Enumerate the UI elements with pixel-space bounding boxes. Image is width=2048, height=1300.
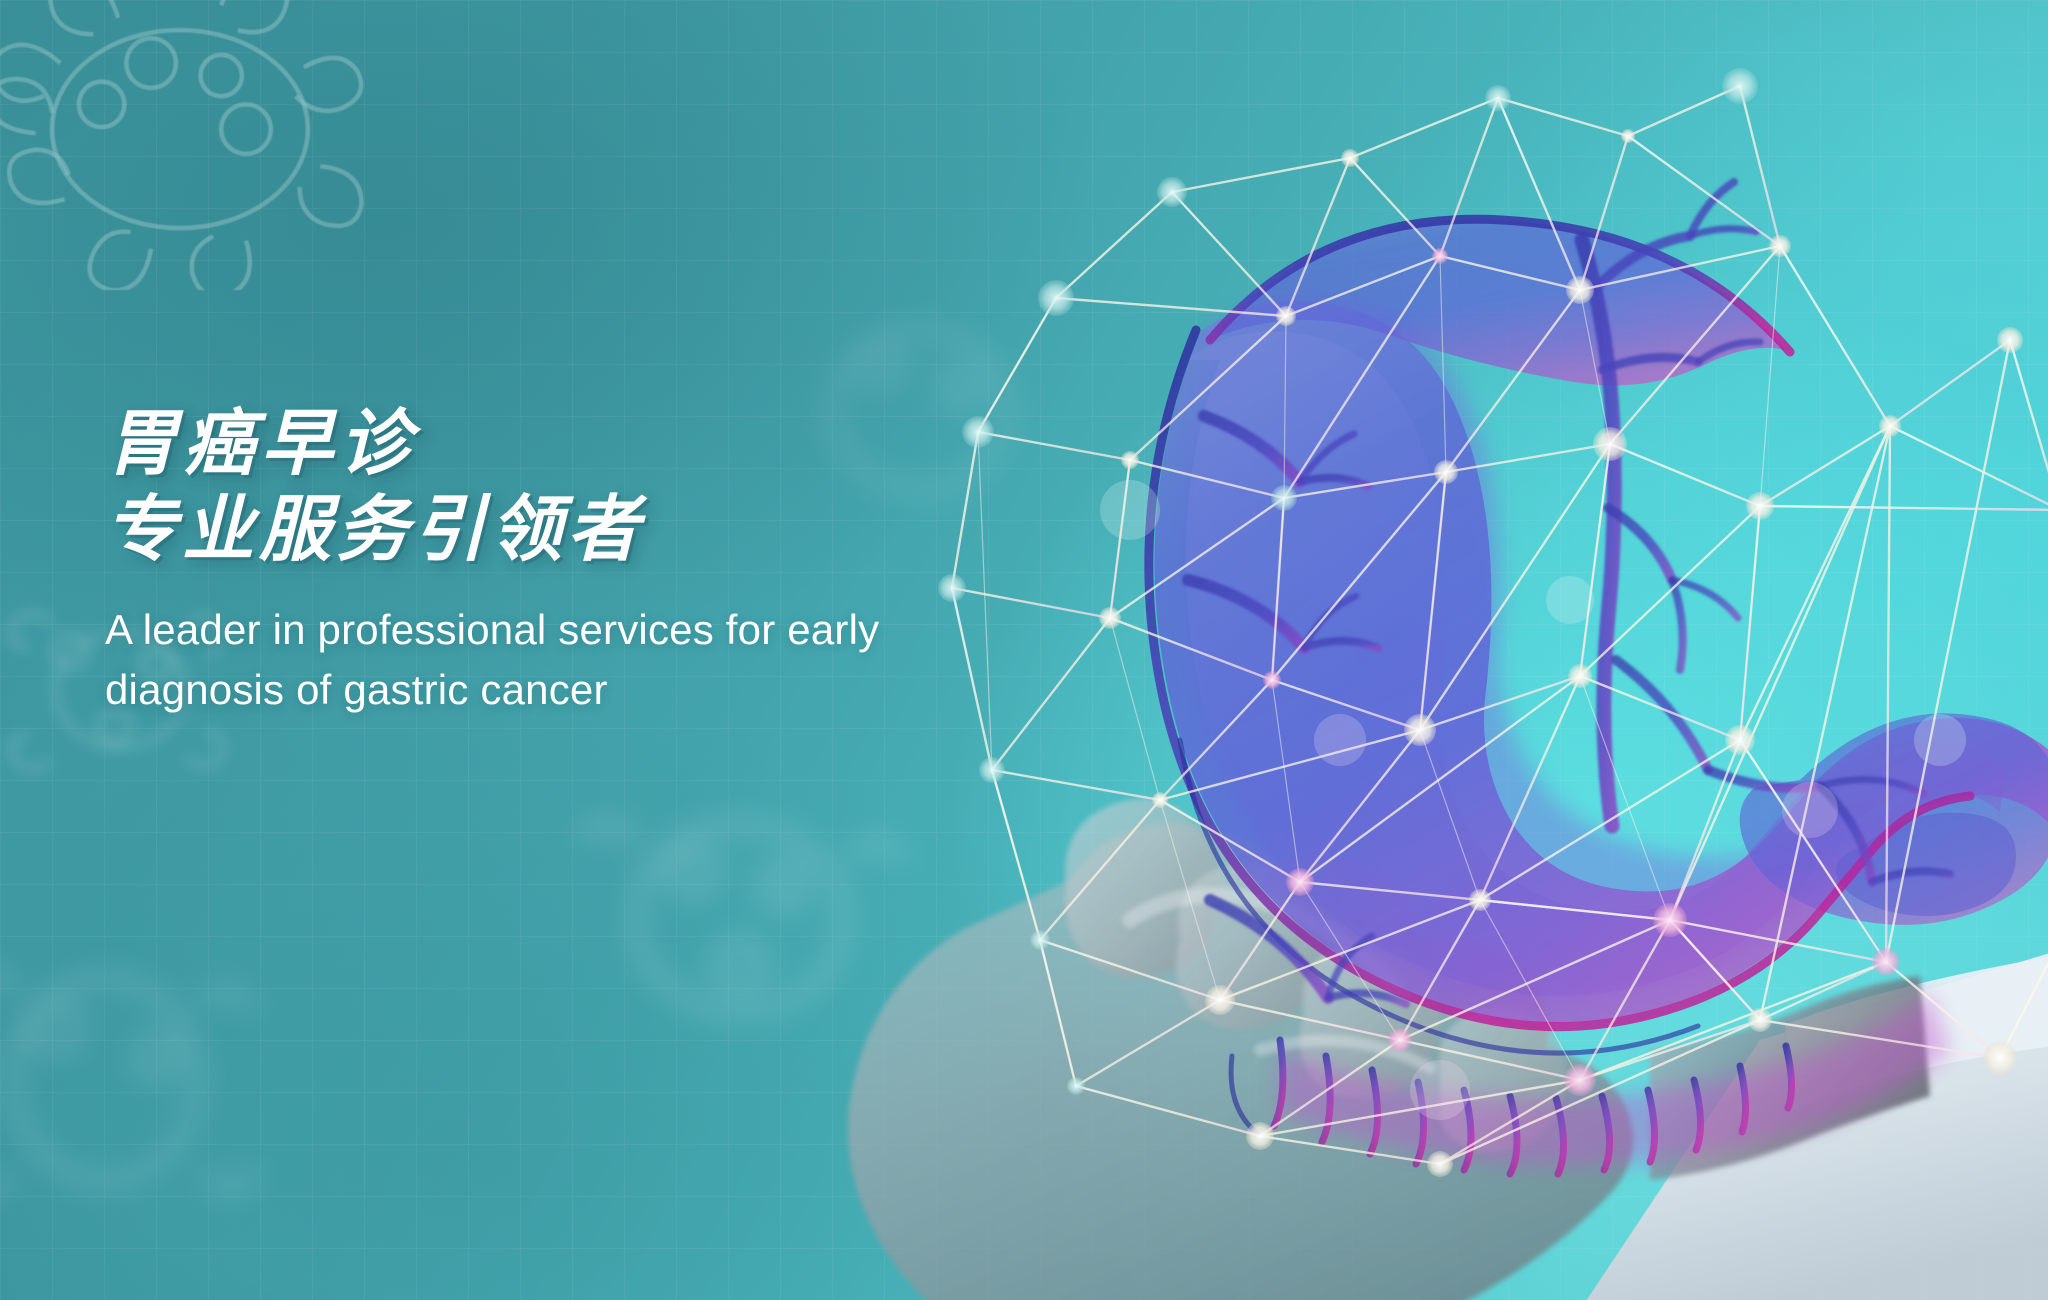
network-nodes — [938, 68, 2048, 1177]
polygon-network-mesh — [880, 40, 2048, 1300]
hand-holding-stomach-illustration — [880, 40, 2048, 1300]
network-edges-secondary — [978, 246, 1886, 1086]
network-node-halos — [1100, 480, 1966, 1120]
subtitle-line-1: A leader in professional services for ea… — [105, 600, 895, 660]
subtitle-english: A leader in professional services for ea… — [105, 600, 895, 720]
hero-banner: 胃癌早诊 专业服务引领者 A leader in professional se… — [0, 0, 2048, 1300]
subtitle-line-2: diagnosis of gastric cancer — [105, 660, 895, 720]
